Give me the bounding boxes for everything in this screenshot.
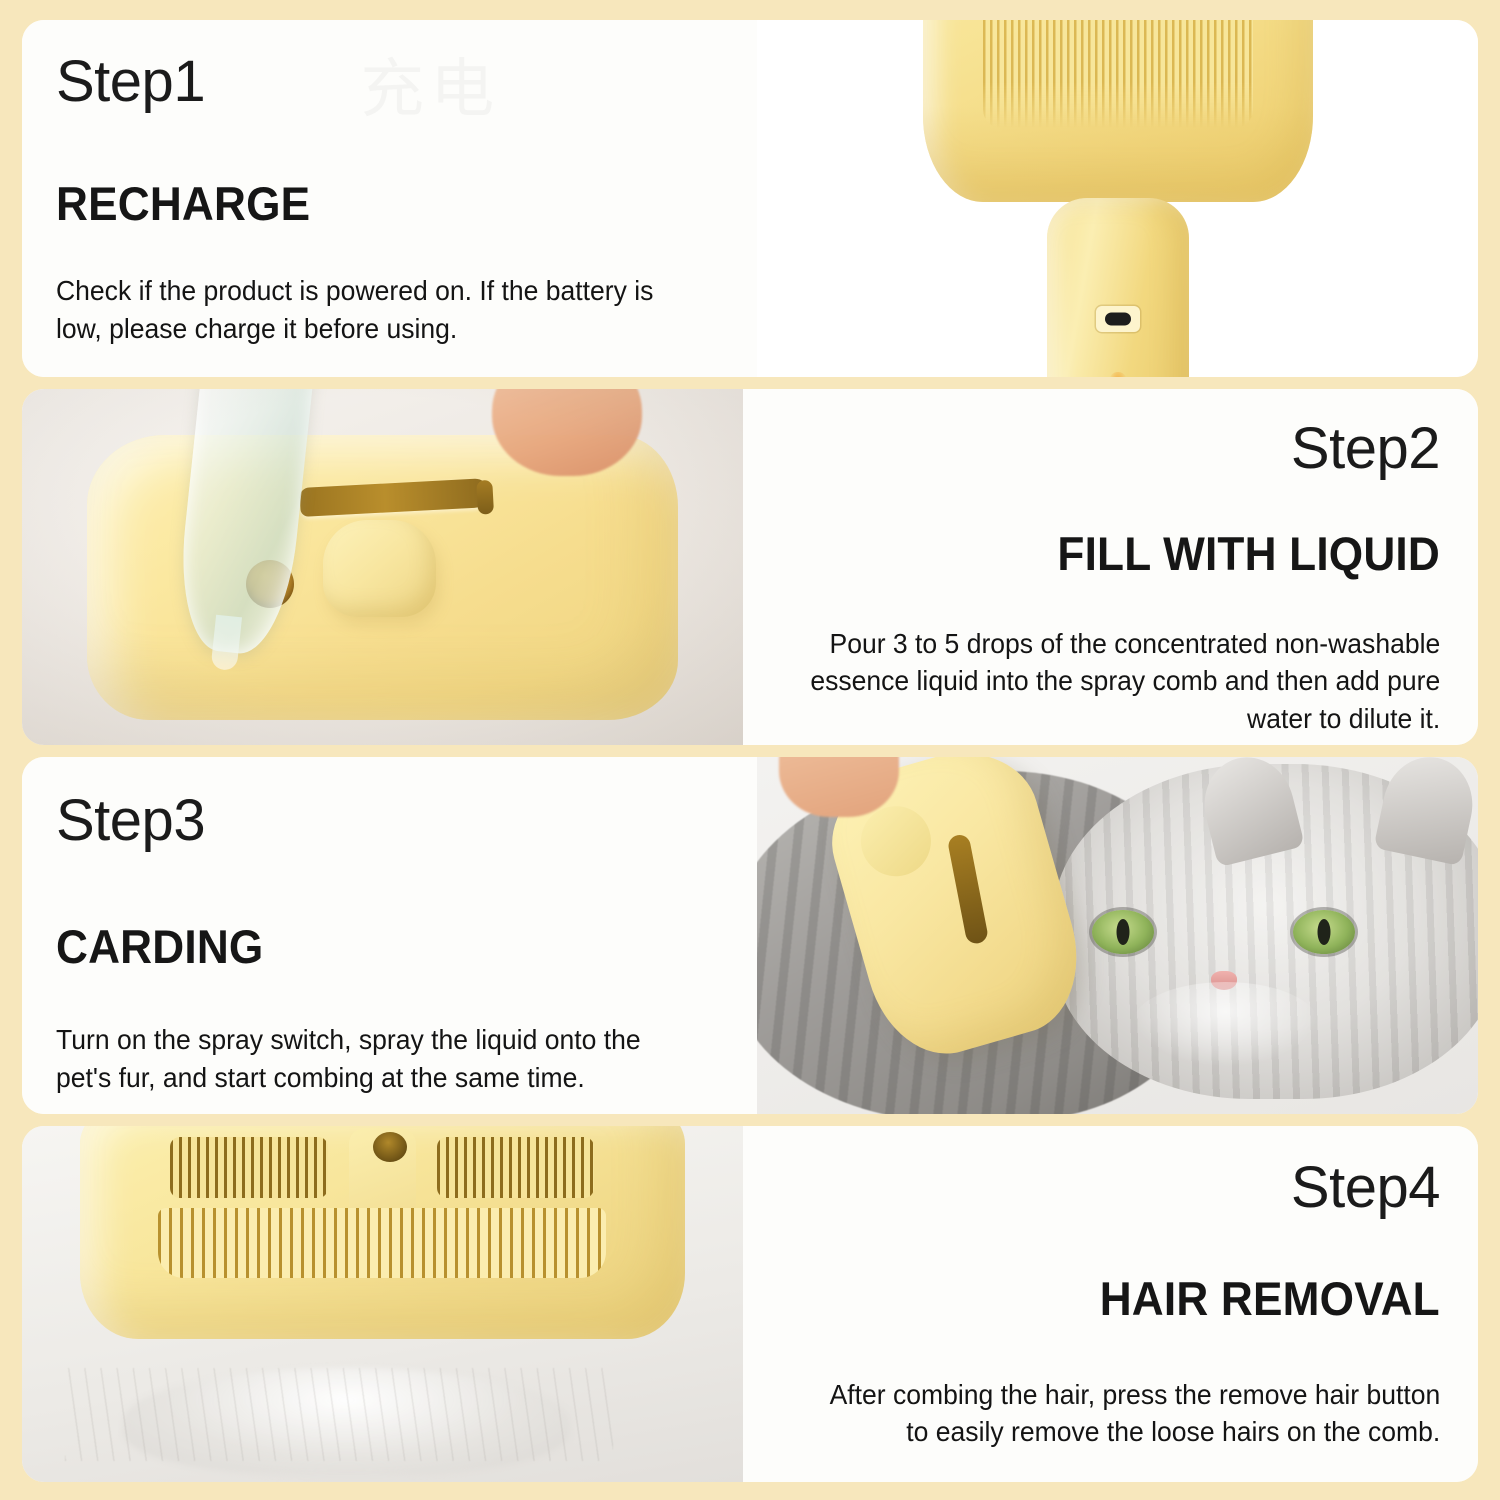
step-3-image bbox=[757, 757, 1478, 1114]
step-2-image bbox=[22, 389, 743, 746]
step-1-image bbox=[757, 20, 1478, 377]
step-4-title: HAIR REMOVAL bbox=[1100, 1274, 1440, 1323]
cat-eye-left bbox=[1092, 910, 1154, 954]
step-1-text-pane: 充电 Step1 RECHARGE Check if the product i… bbox=[22, 20, 757, 377]
step-card-2: Step2 FILL WITH LIQUID Pour 3 to 5 drops… bbox=[22, 389, 1478, 746]
step-2-number: Step2 bbox=[1291, 419, 1440, 480]
step-4-description: After combing the hair, press the remove… bbox=[800, 1376, 1440, 1451]
step-card-1: 充电 Step1 RECHARGE Check if the product i… bbox=[22, 20, 1478, 377]
step-2-description: Pour 3 to 5 drops of the concentrated no… bbox=[800, 625, 1440, 737]
comb-head-shape bbox=[923, 20, 1313, 202]
comb-teeth-upper-left bbox=[170, 1137, 327, 1198]
cat-muzzle bbox=[1132, 982, 1319, 1068]
step-4-image bbox=[22, 1126, 743, 1483]
image-vignette bbox=[22, 389, 743, 746]
comb-teeth-upper-right bbox=[437, 1137, 594, 1198]
step-card-3: Step3 CARDING Turn on the spray switch, … bbox=[22, 757, 1478, 1114]
step-3-number: Step3 bbox=[56, 791, 205, 852]
step-1-number: Step1 bbox=[56, 52, 205, 113]
step-4-number: Step4 bbox=[1291, 1158, 1440, 1219]
cat-ear-right bbox=[1374, 757, 1478, 866]
step-2-title: FILL WITH LIQUID bbox=[1057, 529, 1440, 578]
comb-head-shading bbox=[923, 106, 1313, 202]
usb-c-port-icon bbox=[1096, 306, 1140, 332]
comb-slot bbox=[947, 833, 990, 945]
step-2-text-pane: Step2 FILL WITH LIQUID Pour 3 to 5 drops… bbox=[743, 389, 1478, 746]
step-3-description: Turn on the spray switch, spray the liqu… bbox=[56, 1021, 700, 1096]
loose-hair-strands bbox=[65, 1368, 613, 1461]
comb-head-closeup bbox=[80, 1126, 685, 1340]
step-card-4: Step4 HAIR REMOVAL After combing the hai… bbox=[22, 1126, 1478, 1483]
step-1-title: RECHARGE bbox=[56, 179, 310, 228]
cat-ear-left bbox=[1194, 757, 1305, 867]
comb-teeth-lower bbox=[158, 1208, 606, 1279]
step-3-text-pane: Step3 CARDING Turn on the spray switch, … bbox=[22, 757, 757, 1114]
step-1-description: Check if the product is powered on. If t… bbox=[56, 272, 700, 347]
comb-handle-shape bbox=[1047, 198, 1189, 377]
instruction-infographic: 充电 Step1 RECHARGE Check if the product i… bbox=[0, 0, 1500, 1500]
watermark-text: 充电 bbox=[360, 38, 500, 130]
step-3-title: CARDING bbox=[56, 922, 263, 971]
step-4-text-pane: Step4 HAIR REMOVAL After combing the hai… bbox=[743, 1126, 1478, 1483]
